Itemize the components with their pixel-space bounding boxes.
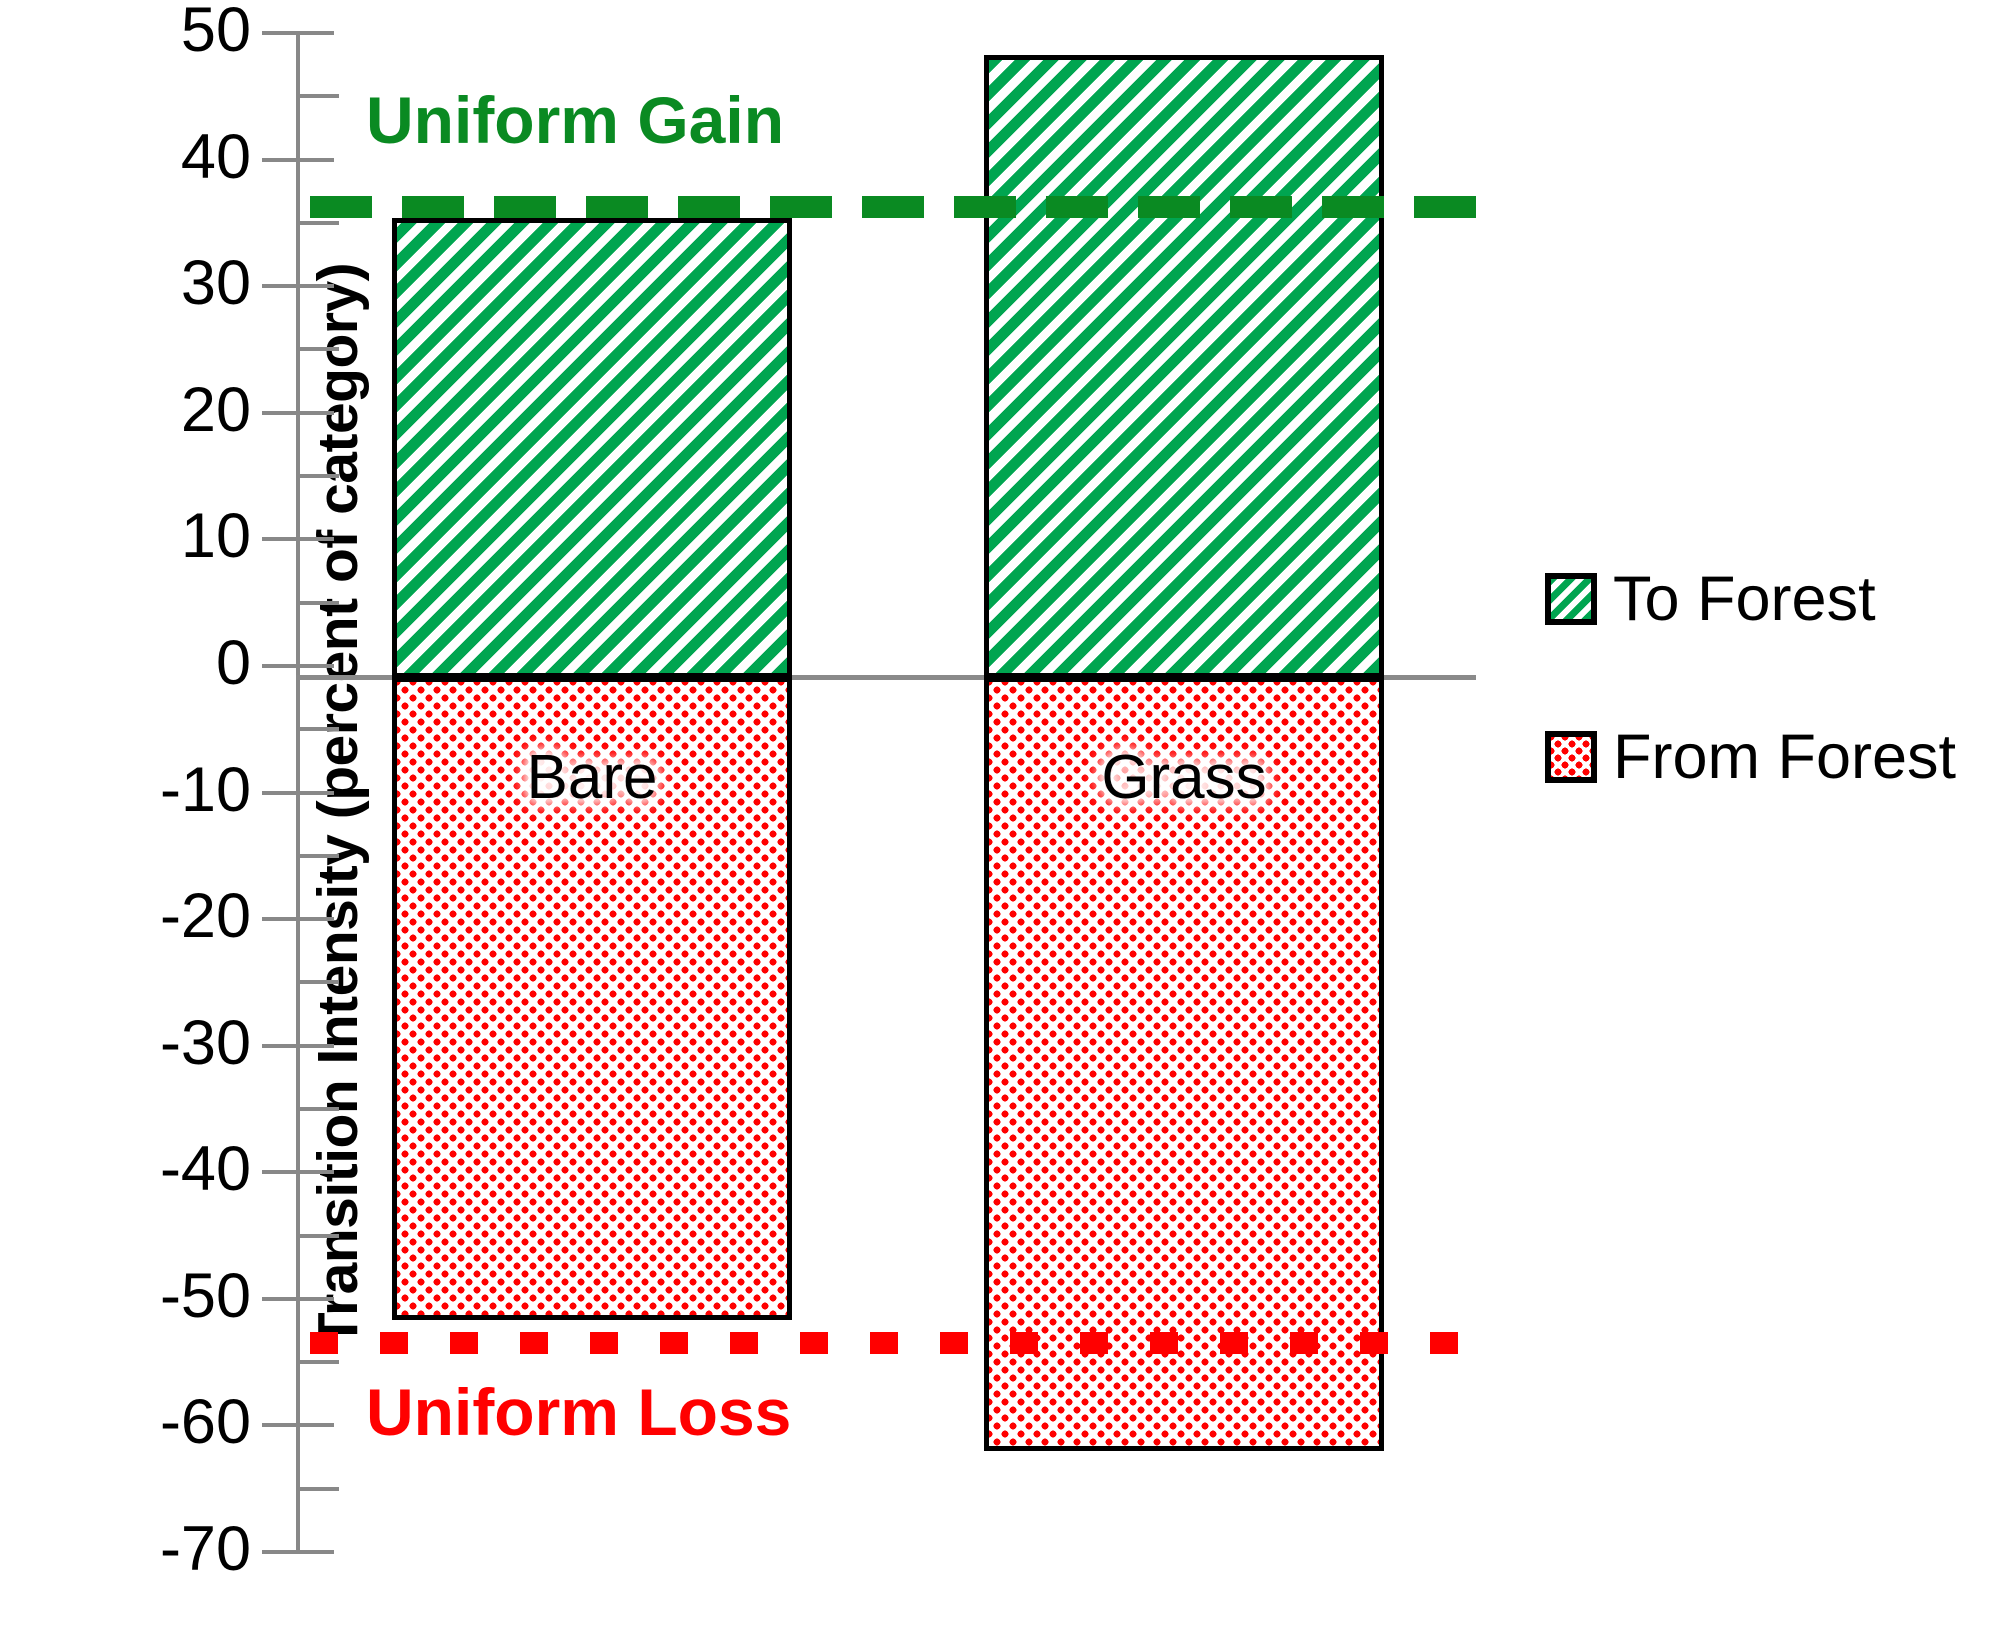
y-tick-major bbox=[262, 284, 334, 288]
y-tick-minor bbox=[299, 474, 339, 478]
legend-label-to-forest: To Forest bbox=[1613, 568, 1876, 631]
bar-grass-to-forest[interactable] bbox=[984, 55, 1384, 678]
y-tick-major bbox=[262, 537, 334, 541]
y-tick-major bbox=[262, 664, 334, 668]
legend-swatch-from-forest-icon bbox=[1545, 731, 1597, 783]
y-tick-minor bbox=[299, 221, 339, 225]
y-tick-minor bbox=[299, 347, 339, 351]
chart-root: Transition Intensity (percent of categor… bbox=[0, 0, 2011, 1629]
y-tick-label: -10 bbox=[31, 759, 251, 822]
legend-item-to-forest[interactable]: To Forest bbox=[1545, 560, 2005, 638]
y-tick-major bbox=[262, 917, 334, 921]
y-tick-major bbox=[262, 1297, 334, 1301]
y-tick-label: -70 bbox=[31, 1518, 251, 1581]
y-axis-title: Transition Intensity (percent of categor… bbox=[305, 135, 375, 1475]
uniform-gain-line bbox=[310, 196, 1490, 218]
y-tick-label: 30 bbox=[31, 252, 251, 315]
legend-swatch-to-forest-icon bbox=[1545, 573, 1597, 625]
y-tick-label: 10 bbox=[31, 505, 251, 568]
y-tick-label: -50 bbox=[31, 1265, 251, 1328]
y-tick-label: -60 bbox=[31, 1391, 251, 1454]
y-tick-major bbox=[262, 1423, 334, 1427]
legend-item-from-forest[interactable]: From Forest bbox=[1545, 718, 2005, 796]
y-tick-label: -20 bbox=[31, 885, 251, 948]
y-tick-major bbox=[262, 1170, 334, 1174]
legend-label-from-forest: From Forest bbox=[1613, 726, 1956, 789]
y-tick-major bbox=[262, 1550, 334, 1554]
y-tick-major bbox=[262, 411, 334, 415]
y-tick-major bbox=[262, 1044, 334, 1048]
chart-legend: To Forest From Forest bbox=[1545, 560, 2005, 876]
y-tick-minor bbox=[299, 1487, 339, 1491]
y-tick-minor bbox=[299, 1234, 339, 1238]
bar-bare-to-forest[interactable] bbox=[392, 218, 792, 678]
y-tick-label: -40 bbox=[31, 1138, 251, 1201]
y-tick-minor bbox=[299, 980, 339, 984]
y-tick-label: 0 bbox=[31, 632, 251, 695]
y-tick-label: 50 bbox=[31, 0, 251, 62]
y-tick-label: -30 bbox=[31, 1012, 251, 1075]
uniform-loss-line bbox=[310, 1332, 1490, 1354]
y-tick-major bbox=[262, 31, 334, 35]
y-tick-minor bbox=[299, 94, 339, 98]
y-tick-major bbox=[262, 158, 334, 162]
bar-label-grass: Grass bbox=[984, 742, 1384, 813]
y-tick-minor bbox=[299, 1360, 339, 1364]
y-tick-minor bbox=[299, 854, 339, 858]
y-tick-minor bbox=[299, 727, 339, 731]
y-tick-minor bbox=[299, 1107, 339, 1111]
uniform-loss-label: Uniform Loss bbox=[366, 1374, 791, 1450]
y-tick-label: 20 bbox=[31, 379, 251, 442]
uniform-gain-label: Uniform Gain bbox=[366, 82, 784, 158]
bar-label-bare: Bare bbox=[392, 742, 792, 813]
y-tick-major bbox=[262, 791, 334, 795]
y-tick-minor bbox=[299, 601, 339, 605]
y-tick-label: 40 bbox=[31, 126, 251, 189]
